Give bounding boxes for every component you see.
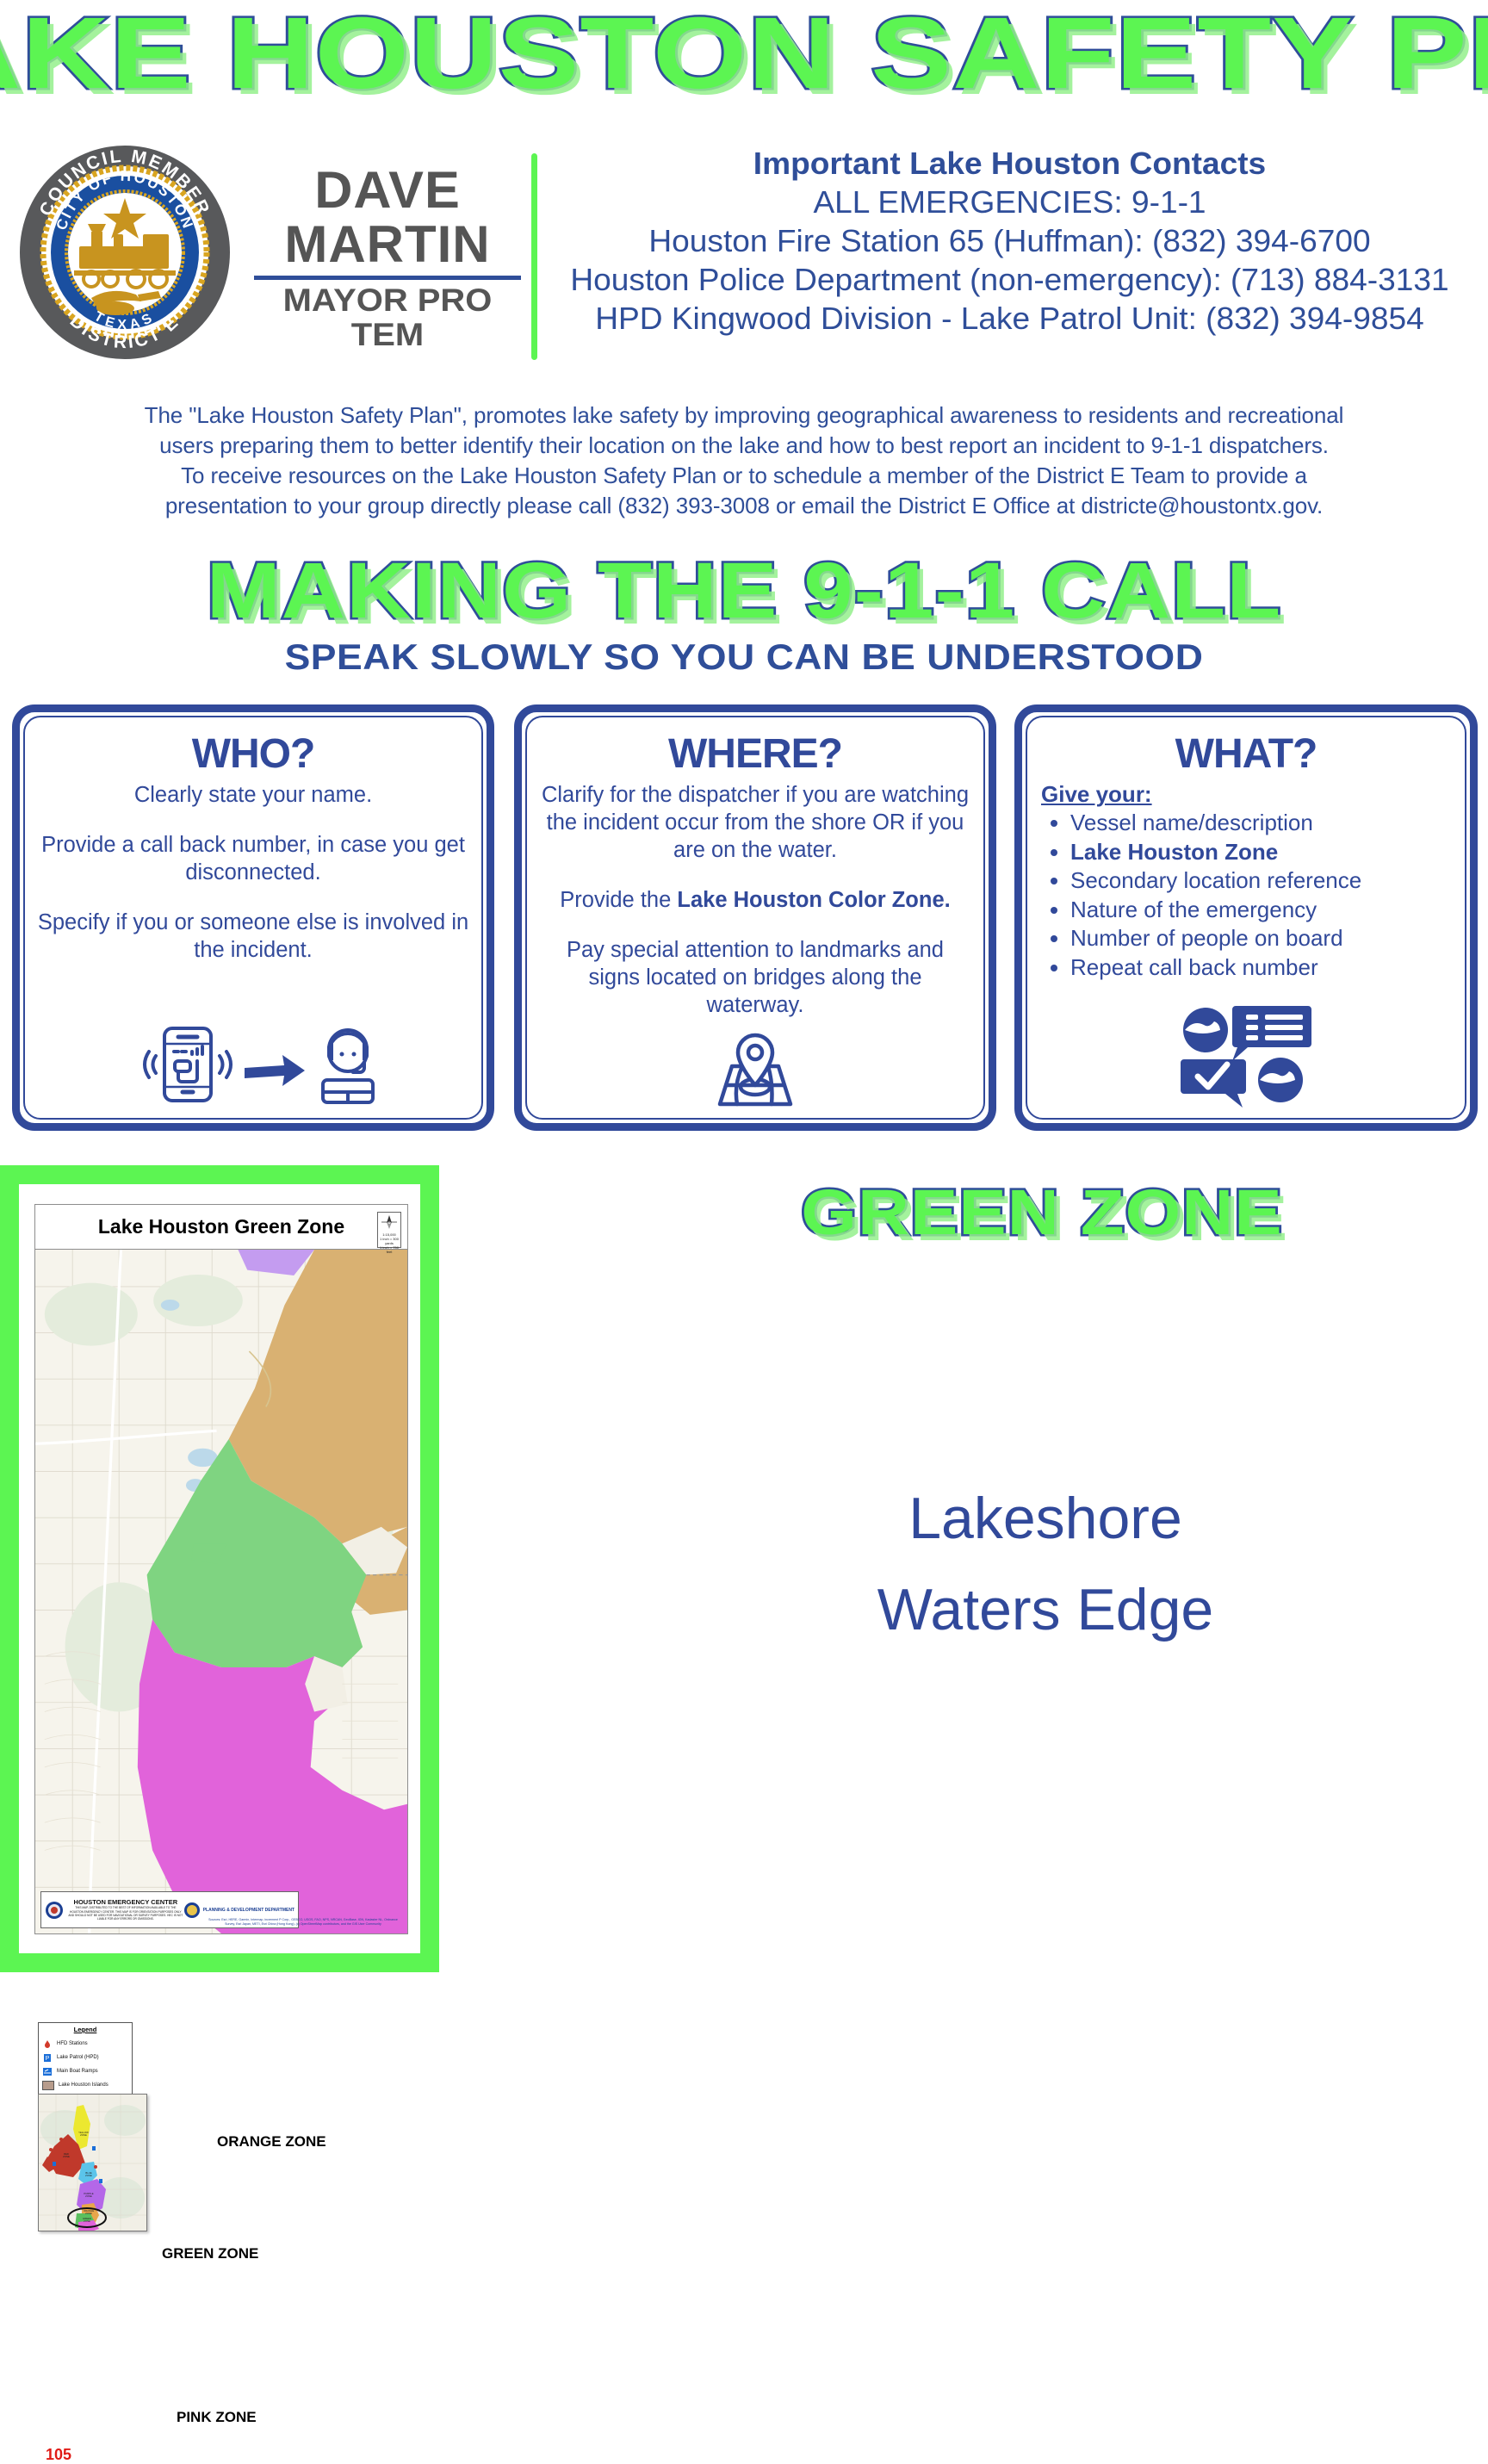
where-text-1: Clarify for the dispatcher if you are wa… (539, 781, 971, 864)
where-text-2-bold: Lake Houston Color Zone. (677, 888, 950, 912)
map-label-orange-zone: ORANGE ZONE (217, 2133, 326, 2151)
boat-ramp-icon (42, 2068, 53, 2076)
contacts-block: Important Lake Houston Contacts ALL EMER… (542, 145, 1477, 338)
official-last-name: MARTIN (254, 217, 521, 272)
official-title: MAYOR PRO TEM (244, 283, 532, 352)
what-item: Number of people on board (1070, 924, 1453, 953)
making-the-call-title: MAKING THE 9-1-1 CALL (0, 549, 1488, 632)
who-card-inner: WHO? Clearly state your name. Provide a … (23, 716, 483, 1120)
map-scale-feet: 1 inch = 750 feet (378, 1245, 400, 1254)
intro-line-4: presentation to your group directly plea… (24, 491, 1464, 521)
where-text-2-prefix: Provide the (560, 888, 677, 912)
city-of-houston-seal-logo: COUNCIL MEMBER DISTRICT E CITY OF HOUSTO… (17, 145, 232, 360)
person-speech-check-icon (1181, 1058, 1303, 1108)
legend-item: P Lake Patrol (HPD) (42, 2051, 128, 2064)
where-text-3: Pay special attention to landmarks and s… (539, 936, 971, 1019)
svg-text:ZONE: ZONE (85, 2194, 92, 2198)
map-canvas (35, 1250, 407, 1933)
what-item: Vessel name/description (1070, 809, 1453, 838)
svg-text:ZONE: ZONE (85, 2212, 92, 2215)
map-credit-text: Sources: Esri, HERE, Garmin, Intermap, i… (204, 1918, 402, 1927)
map-label-pink-zone: PINK ZONE (177, 2409, 257, 2426)
map-inset-overview: YELLOWZONE REDZONE BLUEZONE PURPLEZONE O… (38, 2094, 147, 2231)
intro-line-1: The "Lake Houston Safety Plan", promotes… (24, 400, 1464, 431)
who-icon-group (25, 1023, 481, 1106)
zone-desc-line-1: Lakeshore (603, 1473, 1488, 1564)
map-footer-disclaimer: THIS MAP, DISTRIBUTED TO THE BEST OF INF… (68, 1906, 183, 1921)
compass-icon (379, 1213, 400, 1232)
what-item: Secondary location reference (1070, 866, 1453, 896)
name-divider-rule (254, 276, 521, 280)
islands-swatch (42, 2081, 54, 2090)
contact-line-emergencies: ALL EMERGENCIES: 9-1-1 (529, 183, 1488, 221)
official-name-block: DAVE MARTIN MAYOR PRO TEM (254, 164, 521, 352)
official-first-name: DAVE (251, 164, 524, 217)
svg-text:P: P (46, 2056, 50, 2062)
intro-line-3: To receive resources on the Lake Houston… (24, 461, 1464, 491)
intro-line-2: users preparing them to better identify … (24, 431, 1464, 461)
what-item: Repeat call back number (1070, 953, 1453, 983)
fire-station-icon (42, 2040, 53, 2048)
map-marker-105: 105 (46, 2446, 71, 2464)
map-pin-location-icon (708, 1030, 803, 1109)
svg-text:ZONE: ZONE (85, 2174, 92, 2177)
map-document: Lake Houston Green Zone (34, 1204, 408, 1934)
svg-text:ZONE: ZONE (84, 2219, 90, 2223)
where-card-title: WHERE? (539, 731, 971, 778)
where-text-2: Provide the Lake Houston Color Zone. (539, 886, 971, 914)
map-green-frame: Lake Houston Green Zone (0, 1165, 439, 1972)
city-seal-small-icon (183, 1902, 201, 1919)
map-footer-agency: HOUSTON EMERGENCY CENTER THIS MAP, DISTR… (68, 1898, 183, 1921)
map-white-mat: Lake Houston Green Zone (19, 1184, 420, 1953)
what-icon-group (1027, 1004, 1465, 1111)
who-text-1: Clearly state your name. (37, 781, 469, 809)
contact-line-police: Houston Police Department (non-emergency… (529, 260, 1488, 299)
green-zone-description: Lakeshore Waters Edge (603, 1473, 1488, 1655)
intro-paragraph: The "Lake Houston Safety Plan", promotes… (24, 400, 1464, 521)
map-title: Lake Houston Green Zone (35, 1205, 407, 1250)
svg-text:ZONE: ZONE (63, 2155, 70, 2158)
hec-seal-icon (45, 1901, 64, 1920)
who-card-body: Clearly state your name. Provide a call … (37, 781, 469, 964)
lake-patrol-icon: P (42, 2054, 53, 2062)
dispatcher-headset-icon (323, 1030, 373, 1102)
who-text-3: Specify if you or someone else is involv… (37, 909, 469, 964)
what-card: WHAT? Give your: Vessel name/description… (1014, 704, 1478, 1131)
what-card-title: WHAT? (1039, 731, 1453, 778)
legend-item: Main Boat Ramps (42, 2064, 128, 2078)
what-item: Nature of the emergency (1070, 896, 1453, 925)
zone-desc-line-2: Waters Edge (603, 1564, 1488, 1655)
poster-page: LAKE HOUSTON SAFETY PLAN (0, 0, 1488, 1984)
legend-title: Legend (42, 2026, 128, 2033)
who-card-title: WHO? (37, 731, 469, 778)
map-label-green-zone: GREEN ZONE (162, 2245, 258, 2262)
who-text-2: Provide a call back number, in case you … (37, 831, 469, 886)
svg-text:ZONE: ZONE (80, 2133, 87, 2137)
north-arrow-scale-box: 1:15,000 1 inch = 300 yards 1 inch = 750… (377, 1212, 401, 1248)
map-footer-department: PLANNING & DEVELOPMENT DEPARTMENT (203, 1908, 294, 1913)
what-card-inner: WHAT? Give your: Vessel name/description… (1026, 716, 1466, 1120)
where-card-inner: WHERE? Clarify for the dispatcher if you… (525, 716, 985, 1120)
map-legend: Legend HFD Stations P Lake Patrol (HPD) (38, 2022, 133, 2096)
who-card: WHO? Clearly state your name. Provide a … (12, 704, 494, 1131)
where-icon-group (527, 1030, 983, 1109)
contact-line-fire-station: Houston Fire Station 65 (Huffman): (832)… (529, 221, 1488, 260)
page-title: LAKE HOUSTON SAFETY PLAN (0, 2, 1488, 105)
arrow-right-icon (245, 1055, 305, 1086)
contact-line-lake-patrol: HPD Kingwood Division - Lake Patrol Unit… (529, 299, 1488, 338)
contacts-heading: Important Lake Houston Contacts (529, 145, 1488, 183)
what-items-list: Vessel name/description Lake Houston Zon… (1039, 809, 1453, 982)
where-card-body: Clarify for the dispatcher if you are wa… (539, 781, 971, 1019)
what-item: Lake Houston Zone (1070, 838, 1453, 867)
legend-item: Lake Houston Islands (42, 2078, 128, 2092)
what-give-your-label: Give your: (1041, 781, 1453, 807)
legend-item: HFD Stations (42, 2037, 128, 2051)
map-scale-yards: 1 inch = 300 yards (378, 1237, 400, 1245)
where-card: WHERE? Clarify for the dispatcher if you… (514, 704, 996, 1131)
green-zone-title: GREEN ZONE (704, 1178, 1379, 1247)
person-speech-list-icon (1183, 1006, 1311, 1061)
speak-slowly-subtitle: SPEAK SLOWLY SO YOU CAN BE UNDERSTOOD (0, 637, 1488, 677)
